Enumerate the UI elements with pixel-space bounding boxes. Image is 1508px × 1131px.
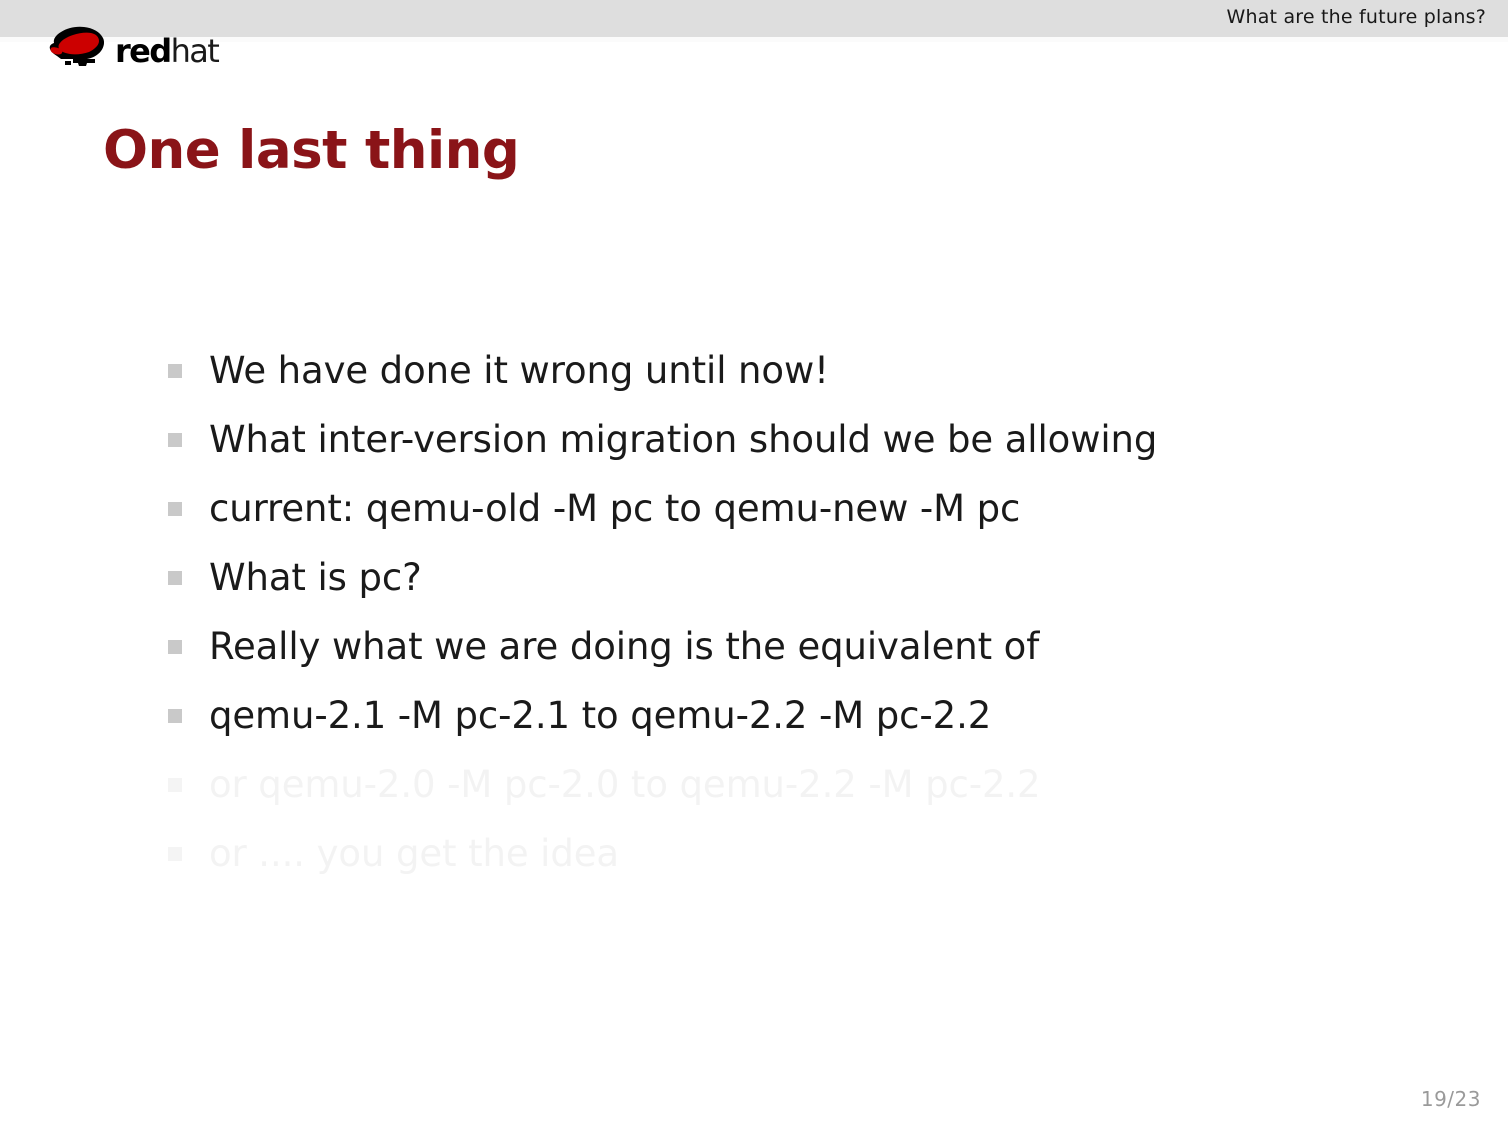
list-item: qemu-2.1 -M pc-2.1 to qemu-2.2 -M pc-2.2 (168, 697, 1368, 766)
bullet-square-icon (168, 571, 182, 585)
list-item: or qemu-2.0 -M pc-2.0 to qemu-2.2 -M pc-… (168, 766, 1368, 835)
list-item: Really what we are doing is the equivale… (168, 628, 1368, 697)
bullet-square-icon (168, 433, 182, 447)
bullet-square-icon (168, 502, 182, 516)
bullet-square-icon (168, 709, 182, 723)
section-title: What are the future plans? (1226, 6, 1486, 28)
bullet-square-icon (168, 778, 182, 792)
list-item: We have done it wrong until now! (168, 352, 1368, 421)
page-number: 19/23 (1421, 1087, 1481, 1111)
wordmark-red: red (115, 32, 171, 70)
wordmark-hat: hat (171, 32, 219, 70)
list-item-label: current: qemu-old -M pc to qemu-new -M p… (209, 490, 1020, 527)
bullet-square-icon (168, 847, 182, 861)
list-item: What inter-version migration should we b… (168, 421, 1368, 490)
bullet-square-icon (168, 364, 182, 378)
list-item-label: qemu-2.1 -M pc-2.1 to qemu-2.2 -M pc-2.2 (209, 697, 991, 734)
presentation-slide: What are the future plans? redhat One la… (0, 0, 1508, 1131)
redhat-logo: redhat (47, 22, 247, 70)
list-item: current: qemu-old -M pc to qemu-new -M p… (168, 490, 1368, 559)
redhat-wordmark: redhat (115, 35, 218, 67)
list-item: or .... you get the idea (168, 835, 1368, 904)
list-item-label: What is pc? (209, 559, 422, 596)
list-item-label: or qemu-2.0 -M pc-2.0 to qemu-2.2 -M pc-… (209, 766, 1041, 803)
redhat-shadowman-icon (47, 26, 113, 70)
bullet-square-icon (168, 640, 182, 654)
list-item-label: or .... you get the idea (209, 835, 619, 872)
bullet-list: We have done it wrong until now!What int… (168, 352, 1368, 904)
list-item: What is pc? (168, 559, 1368, 628)
list-item-label: Really what we are doing is the equivale… (209, 628, 1039, 665)
list-item-label: What inter-version migration should we b… (209, 421, 1157, 458)
slide-title: One last thing (103, 120, 519, 181)
list-item-label: We have done it wrong until now! (209, 352, 829, 389)
